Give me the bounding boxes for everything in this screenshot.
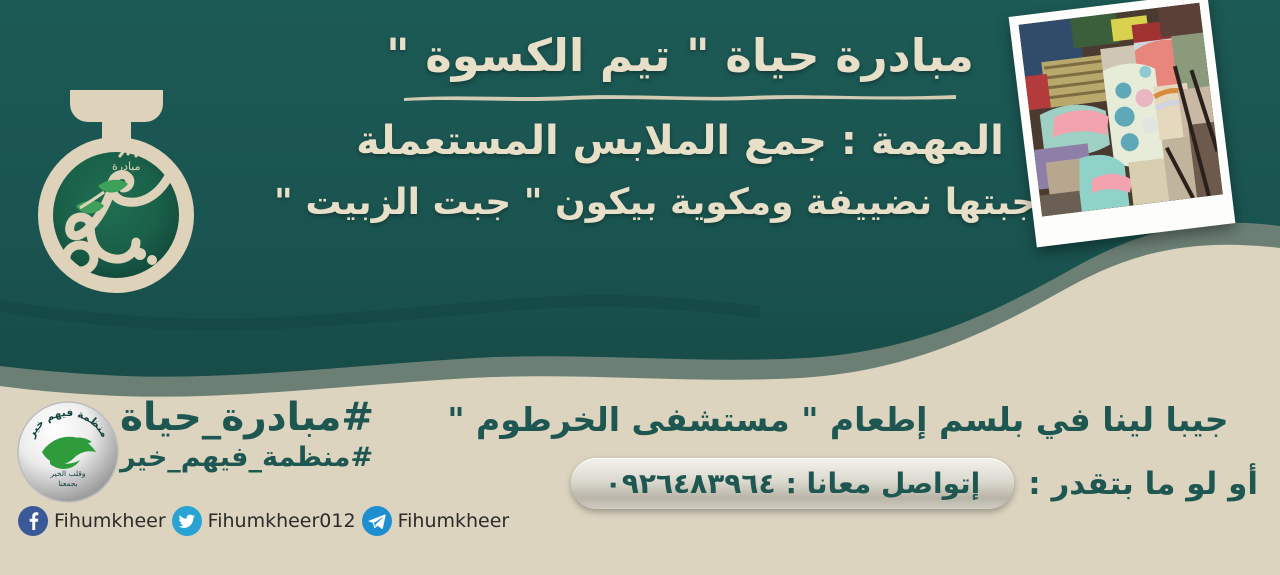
- twitter-handle: Fihumkheer012: [208, 510, 356, 532]
- social-twitter[interactable]: Fihumkheer012: [172, 506, 356, 536]
- headline-block: مبادرة حياة " تيم الكسوة " المهمة : جمع …: [260, 28, 1100, 228]
- alt-lead-text: أو لو ما بتقدر :: [1028, 466, 1258, 502]
- svg-text:مبادرة: مبادرة: [112, 160, 141, 173]
- svg-text:وقلب الخير: وقلب الخير: [49, 469, 85, 478]
- social-links: Fihumkheer Fihumkheer012: [18, 506, 438, 536]
- hashtag-primary: #مبادرة_حياة: [120, 398, 432, 437]
- svg-text:بجمعنا: بجمعنا: [58, 479, 77, 488]
- banner-root: مبادرة مبادرة حياة " تيم الكسوة " المهمة…: [0, 0, 1280, 575]
- social-facebook[interactable]: Fihumkheer: [18, 506, 166, 536]
- social-telegram[interactable]: Fihumkheer: [362, 506, 510, 536]
- telegram-handle: Fihumkheer: [398, 510, 510, 532]
- bottom-section: منظمة فيهم خير وقلب الخير بجمعنا #مبادرة…: [0, 392, 1280, 575]
- contact-pill[interactable]: إتواصل معانا : ٠٩٢٦٤٨٣٩٦٤: [571, 458, 1015, 509]
- contact-row: أو لو ما بتقدر : إتواصل معانا : ٠٩٢٦٤٨٣٩…: [418, 458, 1258, 509]
- facebook-handle: Fihumkheer: [54, 510, 166, 532]
- hashtag-secondary: #منظمة_فيهم_خير: [120, 441, 432, 475]
- telegram-icon: [362, 506, 392, 536]
- dropoff-instruction: جيبا لينا في بلسم إطعام " مستشفى الخرطوم…: [418, 400, 1258, 439]
- page-title: مبادرة حياة " تيم الكسوة ": [260, 28, 1100, 84]
- polaroid-photo-frame: [1009, 0, 1236, 247]
- twitter-icon: [172, 506, 202, 536]
- phone-number[interactable]: ٠٩٢٦٤٨٣٩٦٤: [605, 467, 776, 500]
- main-logo: مبادرة: [24, 82, 209, 297]
- contact-label: إتواصل معانا :: [786, 467, 981, 500]
- condition-line: لو جبتها نضييفة ومكوية بيكون " جبت الزبي…: [260, 179, 1100, 228]
- mission-line: المهمة : جمع الملابس المستعملة: [260, 115, 1100, 167]
- hashtag-group: #مبادرة_حياة #منظمة_فيهم_خير: [120, 398, 432, 475]
- clothes-photo: [1019, 3, 1223, 217]
- facebook-icon: [18, 506, 48, 536]
- decorative-divider: [400, 92, 960, 101]
- org-logo: منظمة فيهم خير وقلب الخير بجمعنا: [16, 400, 120, 504]
